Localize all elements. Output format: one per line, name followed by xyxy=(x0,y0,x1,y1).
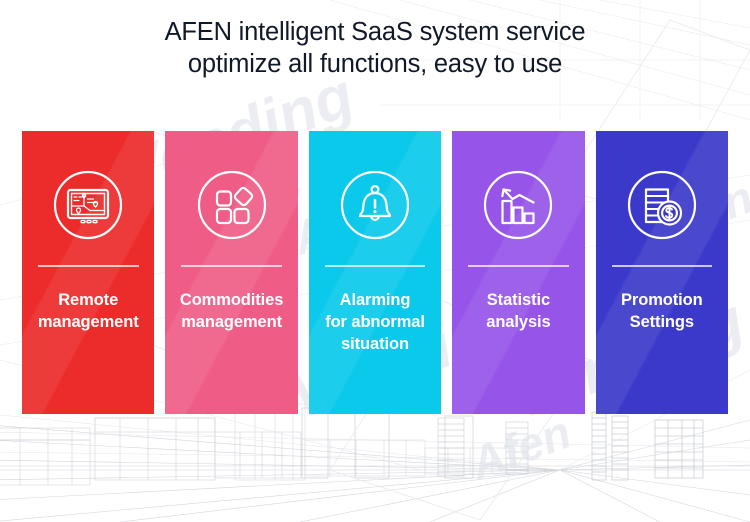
card-divider xyxy=(38,265,139,267)
feature-card-label-line-1: Alarming xyxy=(340,291,411,309)
card-divider xyxy=(468,265,569,267)
feature-card-label-line-1: Statistic xyxy=(487,291,550,309)
feature-card-commodities-management[interactable]: Commodities management xyxy=(165,131,297,414)
page-title-line-2: optimize all functions, easy to use xyxy=(0,48,750,80)
card-divider xyxy=(612,265,713,267)
grid-squares-icon xyxy=(195,168,269,242)
feature-card-promotion-settings[interactable]: Promotion Settings xyxy=(596,131,728,414)
feature-card-label: Statistic analysis xyxy=(452,289,584,333)
svg-text:Afen: Afen xyxy=(463,406,578,490)
feature-card-label-line-3: situation xyxy=(341,335,409,353)
slide-canvas: Vending Vending Vending Afen Afen Afen A… xyxy=(0,0,750,522)
page-title-line-1: AFEN intelligent SaaS system service xyxy=(0,16,750,48)
feature-card-label-line-2: management xyxy=(181,313,282,331)
feature-card-label-line-2: Settings xyxy=(630,313,694,331)
feature-card-row: Remote management Commodities management xyxy=(22,131,728,414)
page-title: AFEN intelligent SaaS system service opt… xyxy=(0,16,750,80)
feature-card-label: Remote management xyxy=(22,289,154,333)
feature-card-alarming-abnormal-situation[interactable]: Alarming for abnormal situation xyxy=(309,131,441,414)
feature-card-remote-management[interactable]: Remote management xyxy=(22,131,154,414)
monitor-map-icon xyxy=(51,168,125,242)
feature-card-label-line-1: Commodities xyxy=(180,291,283,309)
feature-card-label-line-2: analysis xyxy=(486,313,550,331)
bar-chart-trend-icon xyxy=(481,168,555,242)
card-divider xyxy=(181,265,282,267)
feature-card-label-line-1: Remote xyxy=(58,291,118,309)
card-divider xyxy=(325,265,426,267)
feature-card-label: Promotion Settings xyxy=(596,289,728,333)
alarm-bell-icon xyxy=(338,168,412,242)
feature-card-label-line-2: for abnormal xyxy=(325,313,425,331)
feature-card-label-line-2: management xyxy=(38,313,139,331)
coins-dollar-icon xyxy=(625,168,699,242)
feature-card-statistic-analysis[interactable]: Statistic analysis xyxy=(452,131,584,414)
feature-card-label-line-1: Promotion xyxy=(621,291,703,309)
feature-card-label: Alarming for abnormal situation xyxy=(309,289,441,355)
feature-card-label: Commodities management xyxy=(165,289,297,333)
